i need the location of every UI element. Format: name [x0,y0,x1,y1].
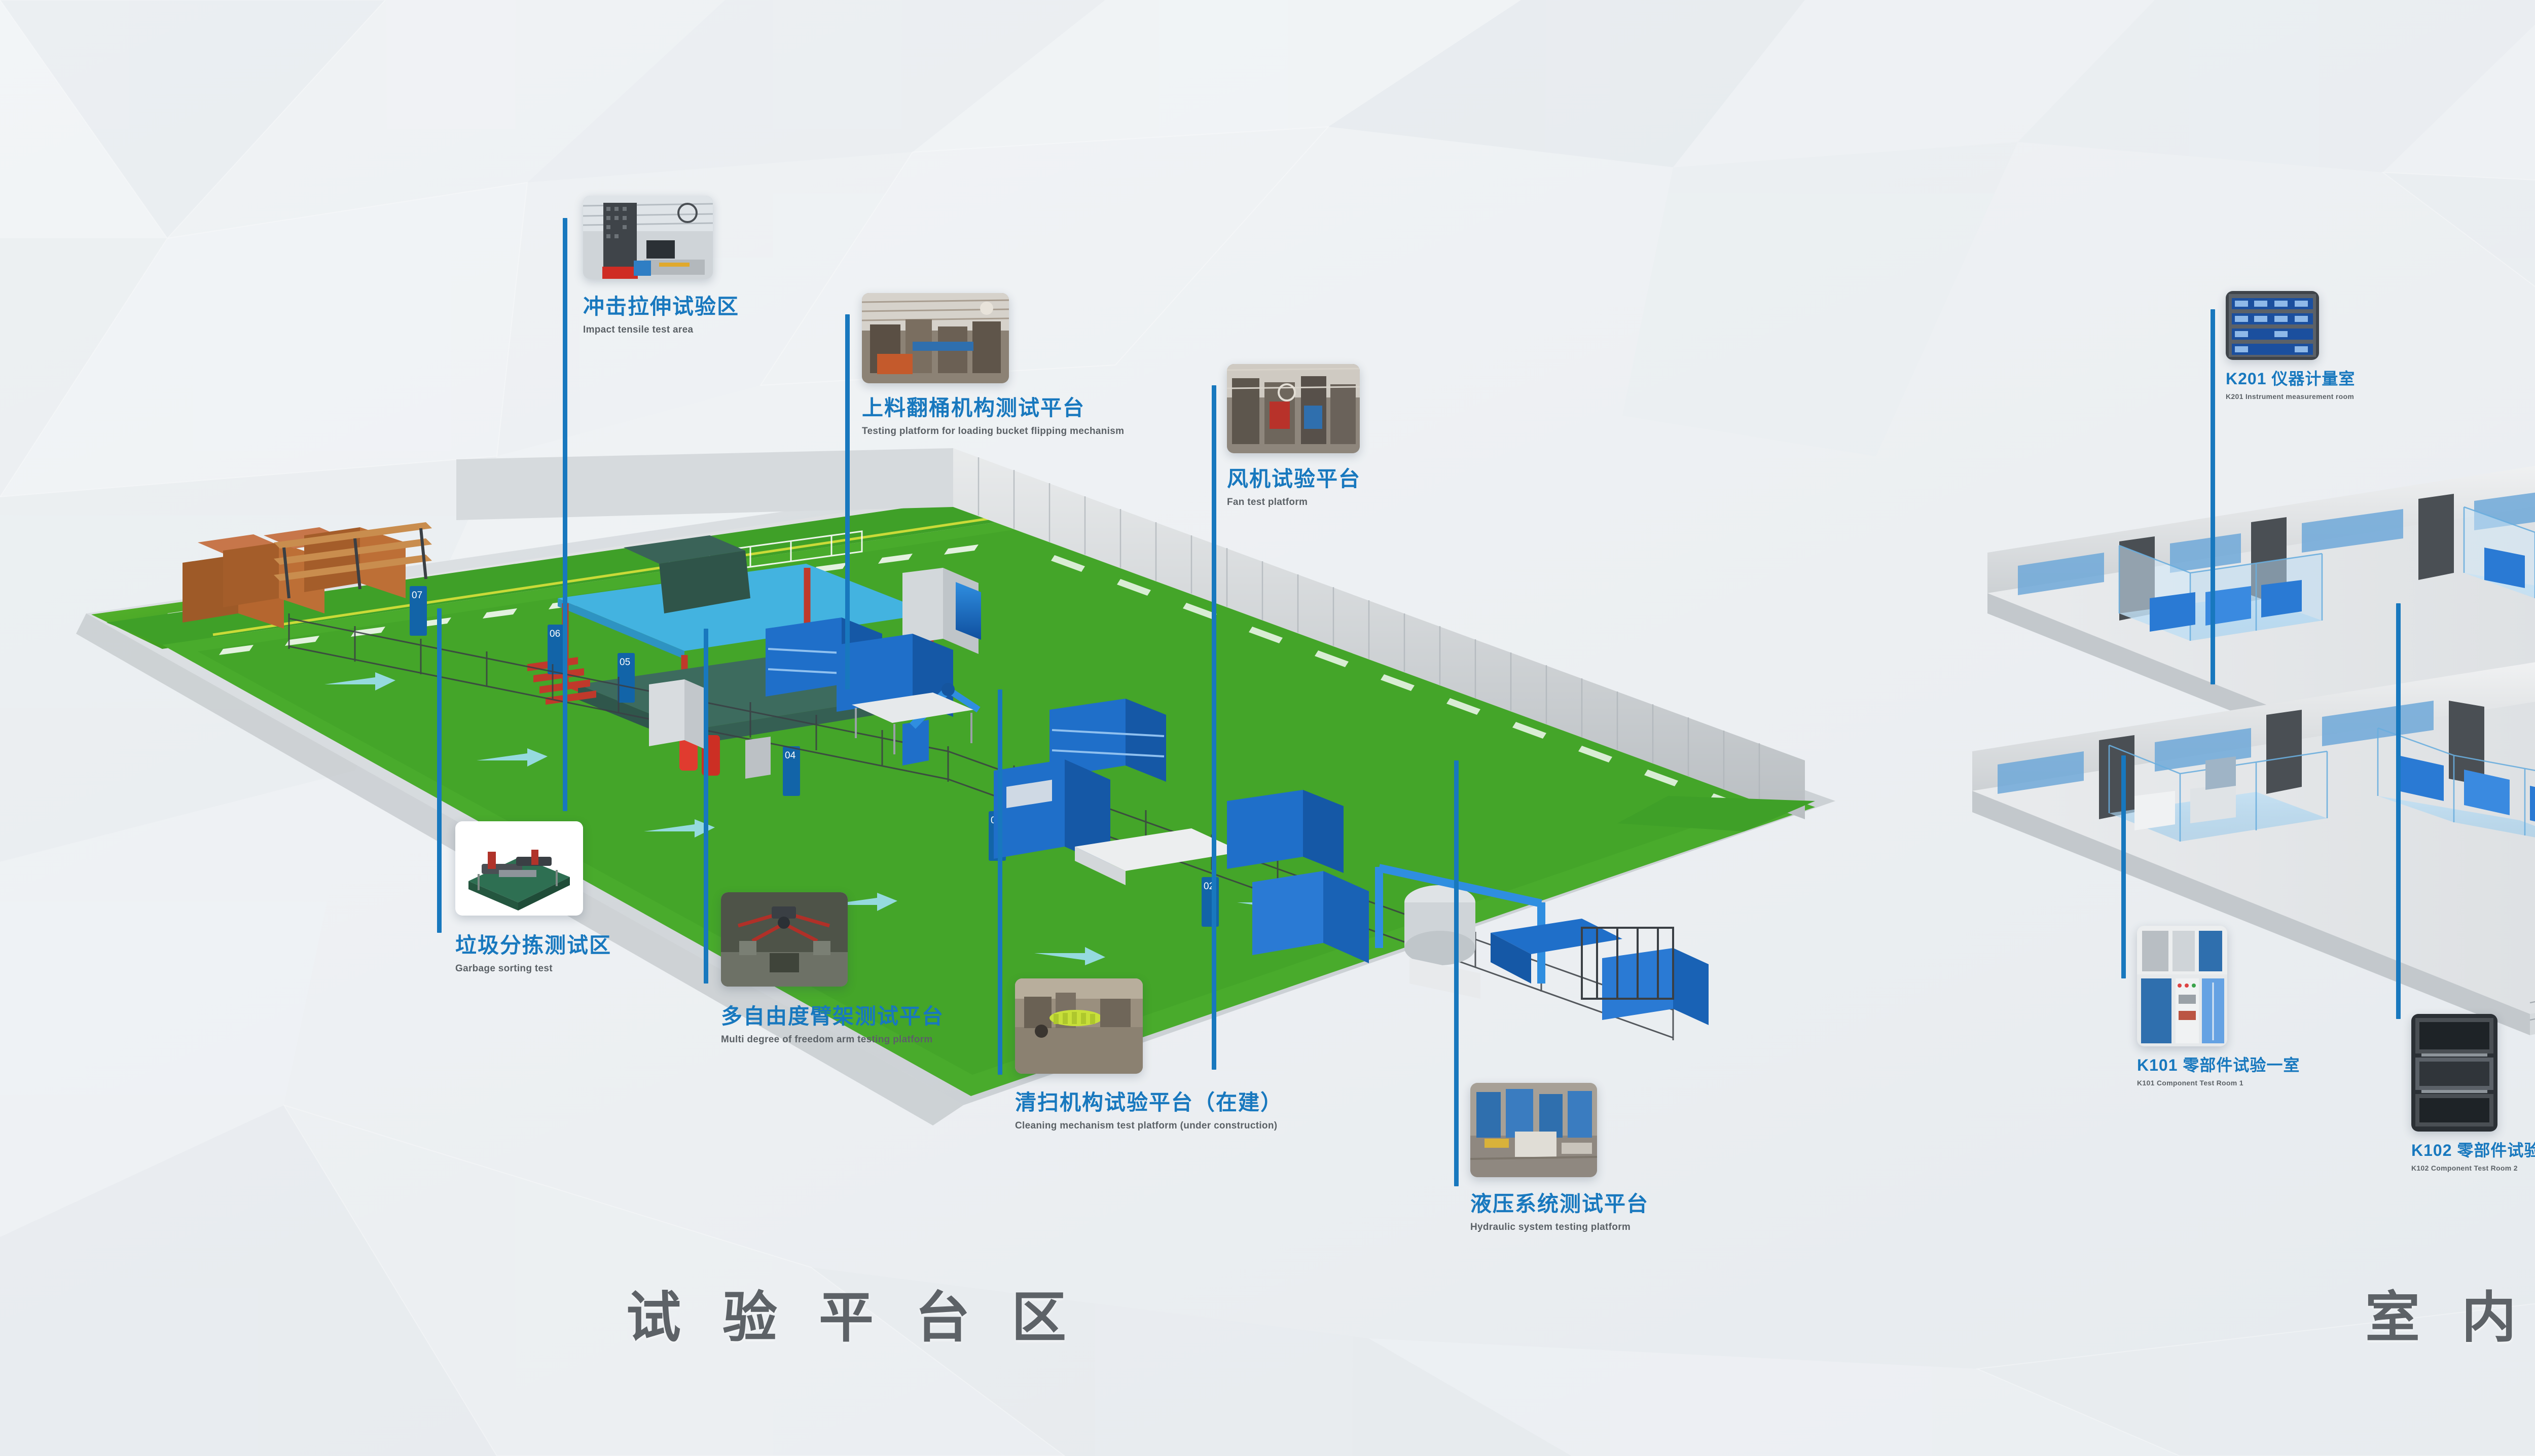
svg-text:07: 07 [412,590,422,601]
callout-title-cn: 清扫机构试验平台（在建） [1015,1090,1283,1115]
outdoor-test-platform-3d-scene: 07 06 05 04 03 02 [71,446,1845,1156]
hydraulic-system-photo [1470,1083,1597,1177]
callout-title-cn: 液压系统测试平台 [1470,1191,1649,1217]
callout-title-en: Multi degree of freedom arm testing plat… [721,1034,944,1046]
fan-test-photo [1227,364,1360,453]
callout-title-cn: K101 零部件试验一室 [2137,1055,2300,1075]
svg-text:04: 04 [785,750,796,761]
component-room-1-photo [2137,926,2227,1046]
instrument-measurement-photo [2226,291,2319,360]
leader-line [2121,755,2126,978]
cleaning-mechanism-photo [1015,978,1143,1074]
leader-line [845,314,850,689]
component-room-2-photo [2411,1014,2497,1132]
leader-line [2211,309,2215,684]
leader-line [563,218,567,811]
callout-title-en: K201 Instrument measurement room [2226,392,2355,401]
garbage-sorting-photo [455,821,583,916]
leader-line [998,689,1002,1075]
callout-title-en: Impact tensile test area [583,324,739,337]
section-title-outdoor: 试 验 平 台 区 [626,1273,1079,1353]
leader-line [704,629,708,984]
callout-title-cn: K201 仪器计量室 [2226,369,2355,388]
leader-line [2396,603,2401,1019]
callout-title-cn: 垃圾分拣测试区 [455,933,611,958]
svg-text:05: 05 [620,657,630,668]
callout-title-en: Garbage sorting test [455,963,611,975]
leader-line [437,608,442,933]
callout-title-en: Cleaning mechanism test platform (under … [1015,1120,1283,1133]
impact-tensile-photo [583,196,713,279]
callout-title-cn: 冲击拉伸试验区 [583,294,739,319]
callout-title-cn: 风机试验平台 [1227,466,1361,492]
multi-dof-arm-photo [721,892,848,987]
callout-title-en: Hydraulic system testing platform [1470,1221,1649,1234]
leader-line [1454,760,1459,1186]
callout-title-en: K101 Component Test Room 1 [2137,1078,2300,1087]
callout-title-en: K102 Component Test Room 2 [2411,1163,2535,1173]
callout-title-cn: 多自由度臂架测试平台 [721,1004,944,1029]
callout-title-en: Fan test platform [1227,496,1361,509]
loading-bucket-photo [862,293,1009,383]
callout-title-cn: 上料翻桶机构测试平台 [862,395,1124,421]
section-title-indoor: 室 内 试 验 区 [2365,1273,2535,1353]
callout-title-en: Testing platform for loading bucket flip… [862,425,1124,438]
svg-text:06: 06 [550,629,560,639]
callout-title-cn: K102 零部件试验二室 [2411,1141,2535,1160]
leader-line [1212,385,1216,1070]
